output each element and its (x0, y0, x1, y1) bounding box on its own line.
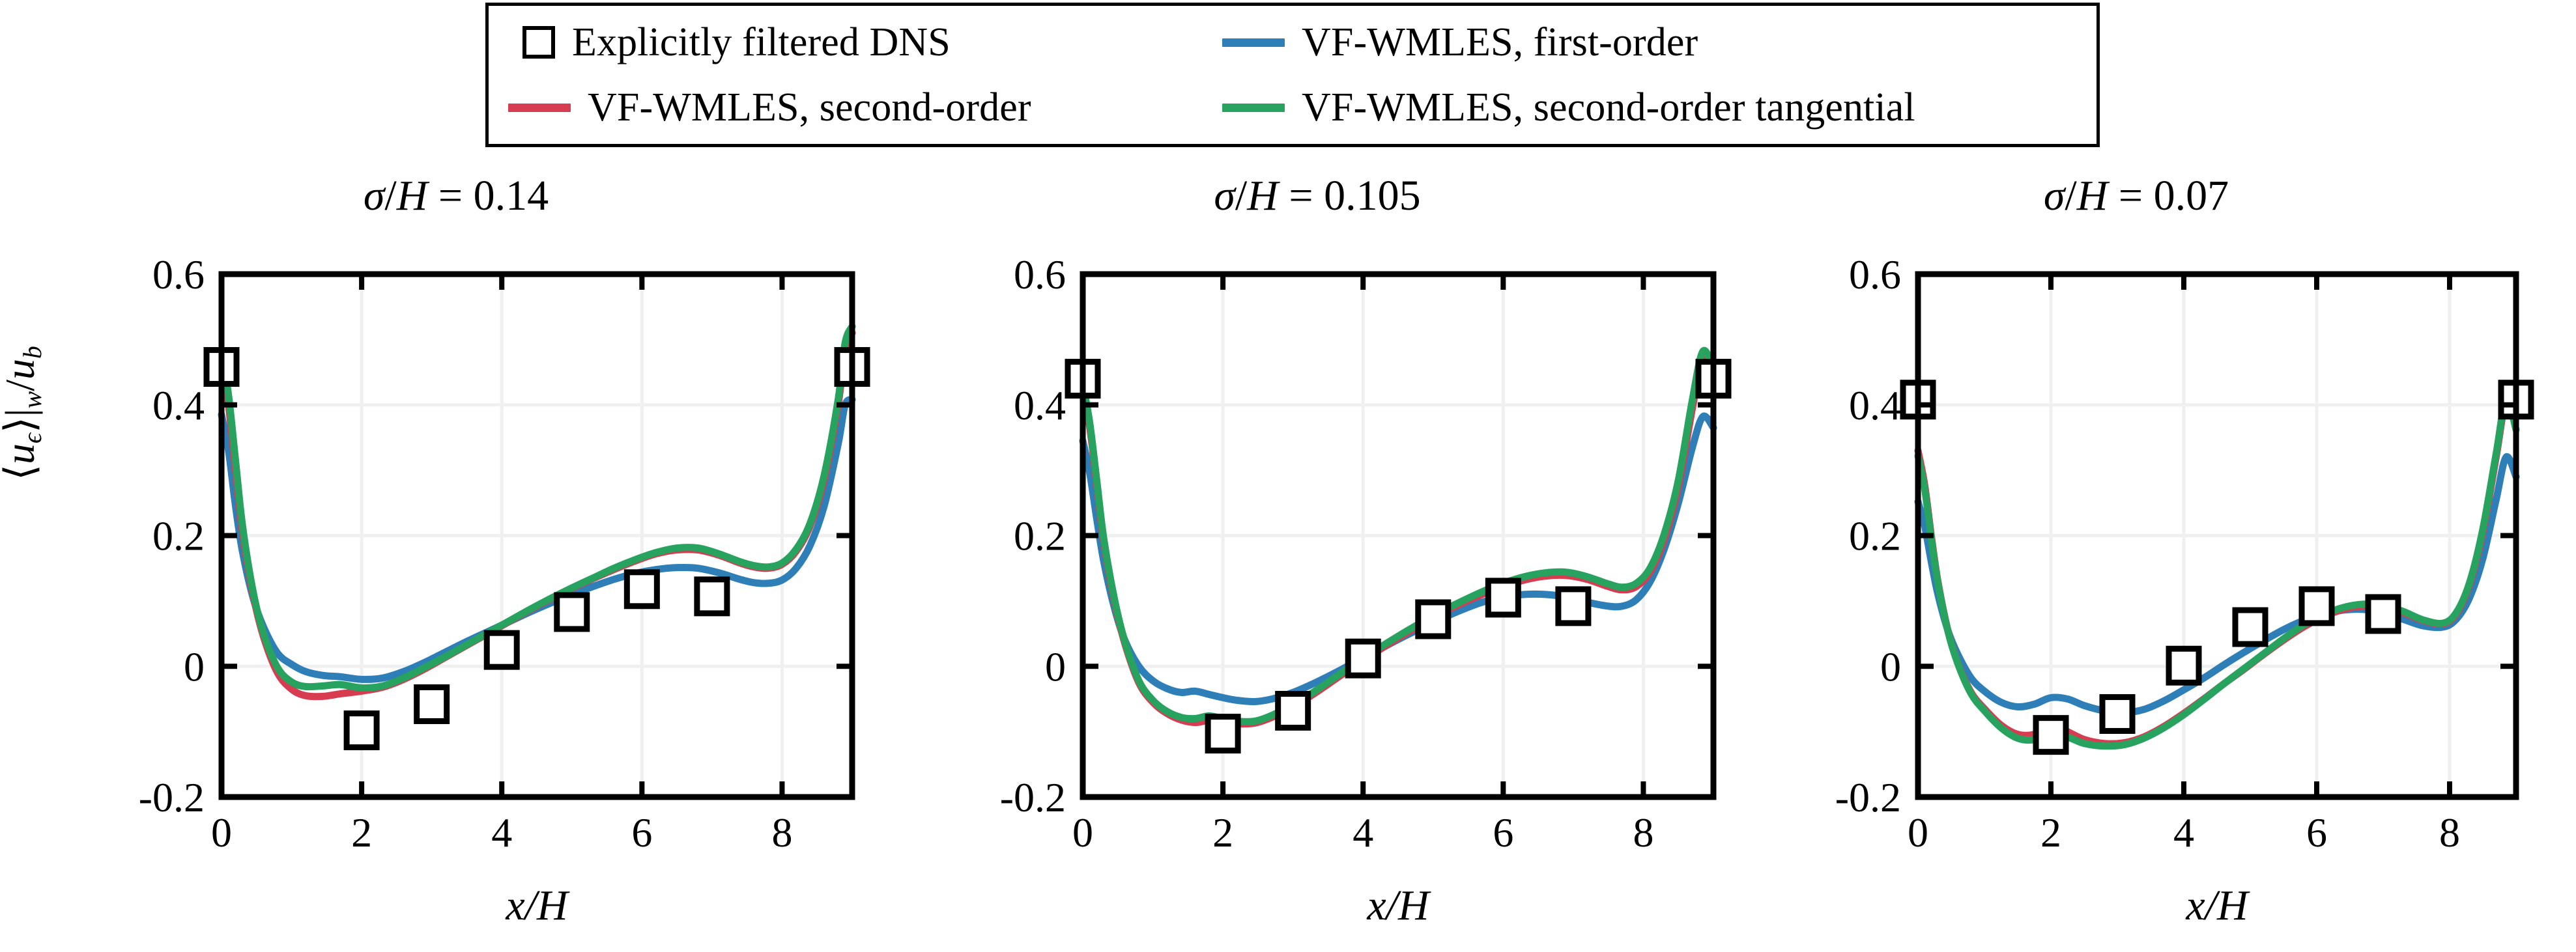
x-axis-label: x/H (505, 882, 570, 929)
chart-panel-0: σ/H = 0.14 ⟨uϵ⟩|w/ub 0.60.40.20-0.202468… (0, 175, 912, 952)
plot-area-0: 0.60.40.20-0.202468x/H (0, 175, 912, 952)
legend-label: VF-WMLES, second-order (588, 87, 1031, 128)
x-tick-label: 6 (2306, 809, 2327, 856)
dns-square-marker (1488, 581, 1518, 615)
x-tick-label: 0 (1908, 809, 1928, 856)
dns-square-marker (2235, 610, 2265, 644)
dns-square-marker (2368, 597, 2398, 631)
y-tick-label: 0.2 (152, 513, 205, 559)
x-axis-label: x/H (2185, 882, 2250, 929)
dns-square-marker (627, 572, 657, 606)
chart-panel-1: σ/H = 0.105 0.60.40.20-0.202468x/H (861, 175, 1773, 952)
legend-item-first-order: VF-WMLES, first-order (1222, 22, 2085, 63)
line-swatch-icon (1222, 104, 1285, 112)
dns-square-marker (417, 687, 447, 721)
y-tick-label: 0 (1880, 643, 1901, 690)
dns-square-marker (697, 580, 727, 613)
y-tick-label: 0 (1045, 643, 1066, 690)
legend-item-second-order: VF-WMLES, second-order (508, 87, 1222, 128)
y-tick-label: 0.2 (1849, 513, 1901, 559)
y-tick-label: 0.6 (152, 251, 205, 298)
x-tick-label: 2 (2040, 809, 2061, 856)
figure-root: Explicitly filtered DNS VF-WMLES, first-… (0, 0, 2576, 952)
dns-square-marker (347, 714, 377, 748)
line-swatch-icon (508, 104, 571, 112)
series-line (1083, 416, 1713, 702)
legend-label: VF-WMLES, first-order (1302, 22, 1698, 63)
x-tick-label: 6 (1493, 809, 1513, 856)
x-tick-label: 4 (2173, 809, 2194, 856)
y-tick-label: 0.4 (1849, 382, 1901, 428)
dns-square-marker (1418, 602, 1448, 636)
dns-square-marker (2036, 718, 2066, 752)
y-tick-label: 0.2 (1014, 513, 1066, 559)
x-tick-label: 2 (1212, 809, 1233, 856)
x-tick-label: 2 (351, 809, 372, 856)
dns-square-marker (1278, 694, 1308, 728)
dns-square-marker (2302, 589, 2332, 623)
dns-square-marker (557, 595, 587, 629)
y-tick-label: 0 (184, 643, 205, 690)
y-tick-label: 0.4 (152, 382, 205, 428)
x-tick-label: 6 (631, 809, 652, 856)
x-tick-label: 0 (211, 809, 232, 856)
dns-square-marker (487, 633, 517, 667)
line-swatch-icon (1222, 38, 1285, 47)
dns-square-marker (1348, 641, 1378, 675)
x-tick-label: 4 (491, 809, 512, 856)
legend-item-second-order-tangential: VF-WMLES, second-order tangential (1222, 87, 2085, 128)
dns-square-marker (1208, 717, 1238, 751)
y-tick-label: 0.6 (1014, 251, 1066, 298)
y-tick-label: -0.2 (1000, 774, 1066, 820)
series-line (222, 326, 852, 688)
dns-square-marker (1558, 589, 1588, 623)
x-tick-label: 8 (2439, 809, 2460, 856)
plot-area-1: 0.60.40.20-0.202468x/H (861, 175, 1773, 952)
dns-square-marker (2169, 649, 2199, 682)
dns-square-marker (2102, 697, 2132, 731)
legend-label: VF-WMLES, second-order tangential (1302, 87, 1915, 128)
series-line (222, 400, 852, 680)
series-line (1083, 358, 1713, 724)
y-tick-label: 0.6 (1849, 251, 1901, 298)
x-tick-label: 8 (1633, 809, 1653, 856)
x-axis-label: x/H (1366, 882, 1431, 929)
series-line (1918, 456, 2516, 712)
series-line (222, 333, 852, 696)
plot-area-2: 0.60.40.20-0.202468x/H (1696, 175, 2576, 952)
chart-panel-2: σ/H = 0.07 0.60.40.20-0.202468x/H (1696, 175, 2576, 952)
series-line (1918, 399, 2516, 746)
y-tick-label: 0.4 (1014, 382, 1066, 428)
x-tick-label: 0 (1072, 809, 1093, 856)
y-tick-label: -0.2 (1835, 774, 1901, 820)
legend-item-dns: Explicitly filtered DNS (508, 22, 1222, 63)
open-square-marker-icon (522, 26, 555, 59)
x-tick-label: 4 (1352, 809, 1373, 856)
x-tick-label: 8 (771, 809, 792, 856)
legend: Explicitly filtered DNS VF-WMLES, first-… (485, 3, 2100, 147)
y-tick-label: -0.2 (139, 774, 205, 820)
legend-label: Explicitly filtered DNS (572, 22, 951, 63)
